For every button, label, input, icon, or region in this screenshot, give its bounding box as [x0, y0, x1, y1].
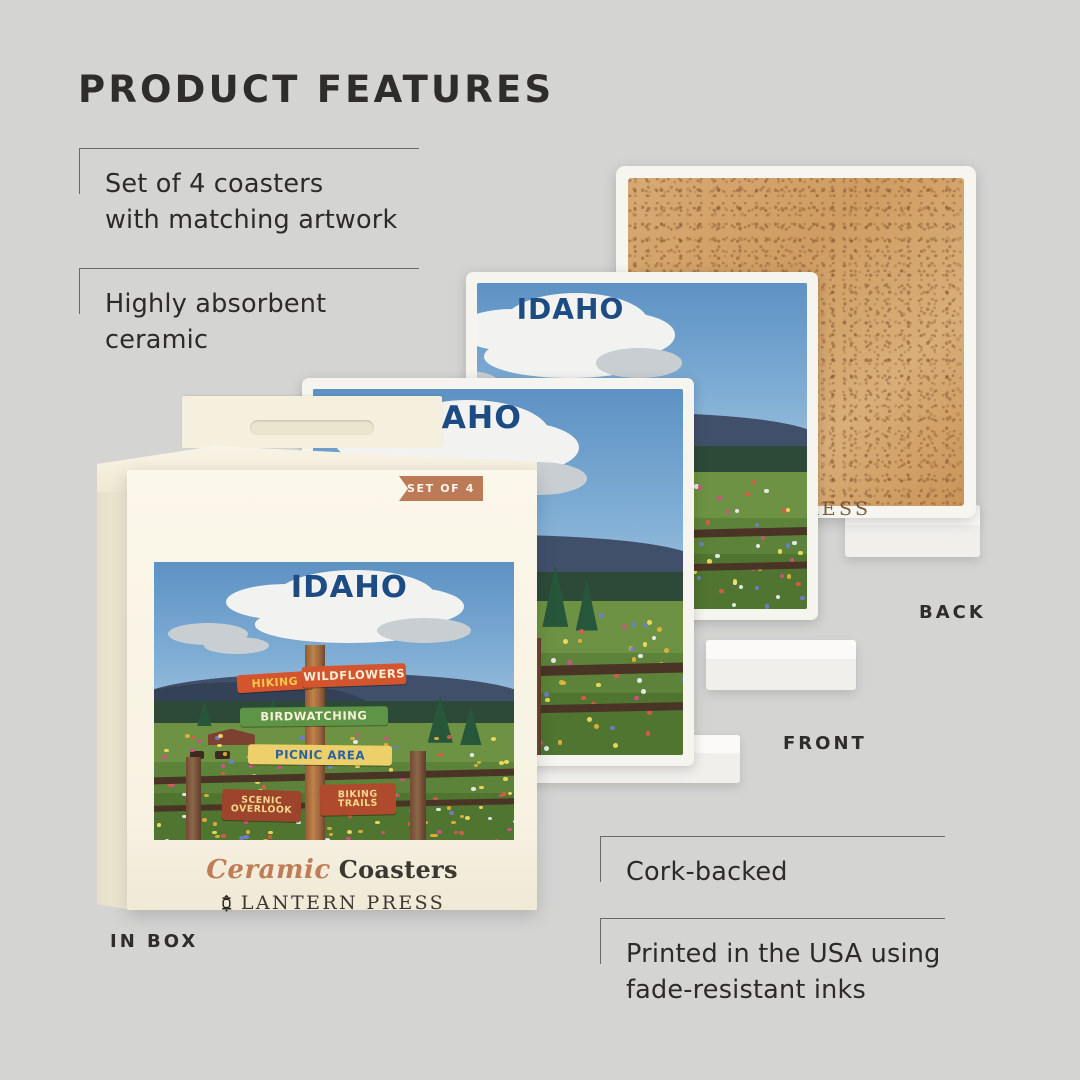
brand-script-word: Ceramic	[206, 855, 331, 885]
caption-back: BACK	[919, 602, 986, 623]
box-branding: CeramicCoasters LANTERN PRESS	[127, 855, 537, 914]
flower	[327, 827, 332, 831]
feature-stub	[600, 918, 601, 964]
flower	[246, 830, 251, 834]
feature-stub	[79, 268, 80, 314]
flower	[229, 760, 234, 764]
box-hang-tab	[182, 396, 442, 448]
flower	[185, 734, 190, 738]
signpost-picnic-area: PICNIC AREA	[247, 745, 391, 767]
flower	[479, 786, 484, 790]
flower	[244, 835, 249, 839]
brand-roman-word: Coasters	[339, 855, 458, 884]
flower	[732, 603, 736, 607]
flower	[202, 818, 207, 822]
flower	[579, 629, 584, 634]
flower	[223, 752, 228, 756]
flower	[778, 549, 782, 553]
signpost-wildflowers: WILDFLOWERS	[301, 663, 406, 687]
flower	[715, 554, 719, 558]
flower	[499, 761, 504, 765]
feature-rule	[600, 836, 945, 837]
artwork-title: IDAHO	[517, 293, 625, 326]
flower	[614, 673, 619, 678]
flower	[217, 744, 222, 748]
feature-stub	[79, 148, 80, 194]
flower	[786, 543, 790, 547]
flower	[664, 648, 669, 653]
flower	[268, 835, 273, 839]
flower	[503, 777, 508, 781]
feature-rule	[79, 148, 419, 149]
feature-text: Highly absorbent ceramic	[105, 286, 326, 358]
flower	[563, 639, 568, 644]
signpost-birdwatching: BIRDWATCHING	[240, 706, 388, 727]
flower	[587, 717, 592, 722]
artwork-title: IDAHO	[291, 570, 408, 605]
flower	[449, 811, 454, 815]
flower	[544, 746, 549, 751]
product-box: IDAHOHIKINGWILDFLOWERSBIRDWATCHINGPICNIC…	[97, 440, 537, 910]
flower	[719, 589, 723, 593]
flower	[647, 710, 652, 715]
flower	[434, 737, 439, 741]
flower	[544, 692, 549, 697]
flower	[213, 822, 218, 826]
flower	[375, 821, 380, 825]
product-feature-graphic: PRODUCT FEATURES RESS IDAHOHIKINGWILDFLO…	[0, 0, 1080, 1080]
feature-stub	[600, 836, 601, 882]
flower	[726, 510, 730, 514]
flower	[632, 657, 637, 662]
flower	[745, 492, 749, 496]
hang-hole	[250, 420, 374, 435]
page-title: PRODUCT FEATURES	[78, 68, 554, 111]
flower	[581, 696, 586, 701]
flower	[792, 541, 796, 545]
flower	[733, 579, 737, 583]
flower	[491, 737, 496, 741]
flower	[347, 830, 352, 834]
flower	[764, 489, 768, 493]
flower	[752, 480, 756, 484]
flower	[513, 820, 514, 824]
flower	[699, 542, 703, 546]
flower	[157, 823, 162, 827]
publisher-line: LANTERN PRESS	[127, 892, 537, 914]
flower	[596, 683, 601, 688]
set-of-4-badge: SET OF 4	[399, 476, 483, 501]
flower	[438, 753, 443, 757]
fence-post	[410, 751, 427, 840]
flower	[451, 821, 456, 825]
coaster-stand-front	[706, 640, 856, 690]
cloud	[377, 618, 471, 643]
caption-in-box: IN BOX	[110, 931, 198, 952]
flower	[641, 689, 646, 694]
flower	[776, 595, 780, 599]
artwork-box: IDAHOHIKINGWILDFLOWERSBIRDWATCHINGPICNIC…	[154, 562, 514, 840]
flower	[465, 816, 470, 820]
flower	[798, 551, 802, 555]
fence-post	[186, 757, 200, 840]
flower	[471, 787, 476, 791]
flower	[437, 830, 442, 834]
signpost-biking-trails: BIKINGTRAILS	[319, 784, 395, 816]
brand-title-line: CeramicCoasters	[127, 855, 537, 885]
feature-text: Cork-backed	[626, 854, 788, 890]
flower	[244, 820, 249, 824]
flower	[325, 838, 330, 840]
box-window: IDAHOHIKINGWILDFLOWERSBIRDWATCHINGPICNIC…	[154, 562, 514, 840]
cloud	[204, 637, 269, 654]
box-front-panel: IDAHOHIKINGWILDFLOWERSBIRDWATCHINGPICNIC…	[127, 470, 537, 910]
flower	[551, 658, 556, 663]
flower	[165, 839, 170, 840]
flower	[682, 677, 683, 682]
feature-text: Printed in the USA using fade-resistant …	[626, 936, 941, 1008]
publisher-name: LANTERN PRESS	[241, 892, 445, 914]
flower	[300, 736, 305, 740]
flower	[447, 735, 452, 739]
flower	[559, 680, 564, 685]
box-side-panel	[97, 462, 131, 910]
flower	[613, 743, 618, 748]
flower	[459, 831, 464, 835]
flower	[765, 604, 769, 608]
flower	[796, 582, 800, 586]
lantern-icon	[219, 894, 234, 912]
flower	[495, 839, 500, 840]
feature-text: Set of 4 coasters with matching artwork	[105, 166, 397, 238]
signpost-scenic-overlook: SCENICOVERLOOK	[222, 789, 302, 822]
flower	[162, 755, 167, 759]
feature-rule	[600, 918, 945, 919]
flower	[262, 785, 267, 789]
flower	[739, 585, 743, 589]
flower	[197, 740, 202, 744]
flower	[646, 731, 651, 736]
flower	[263, 839, 268, 840]
flower	[706, 520, 710, 524]
flower	[599, 613, 604, 618]
flower	[698, 485, 702, 489]
flower	[353, 740, 358, 744]
flower	[800, 596, 804, 600]
flower	[594, 724, 599, 729]
flower	[164, 749, 169, 753]
cloud	[596, 348, 682, 377]
caption-front: FRONT	[783, 733, 867, 754]
flower	[717, 496, 721, 500]
flower	[787, 574, 791, 578]
flower	[328, 766, 333, 770]
feature-rule	[79, 268, 419, 269]
flower	[346, 837, 351, 840]
flower	[447, 806, 452, 810]
flower	[657, 627, 662, 632]
flower	[504, 760, 509, 764]
stand-top-front	[706, 640, 856, 659]
flower	[632, 622, 637, 627]
